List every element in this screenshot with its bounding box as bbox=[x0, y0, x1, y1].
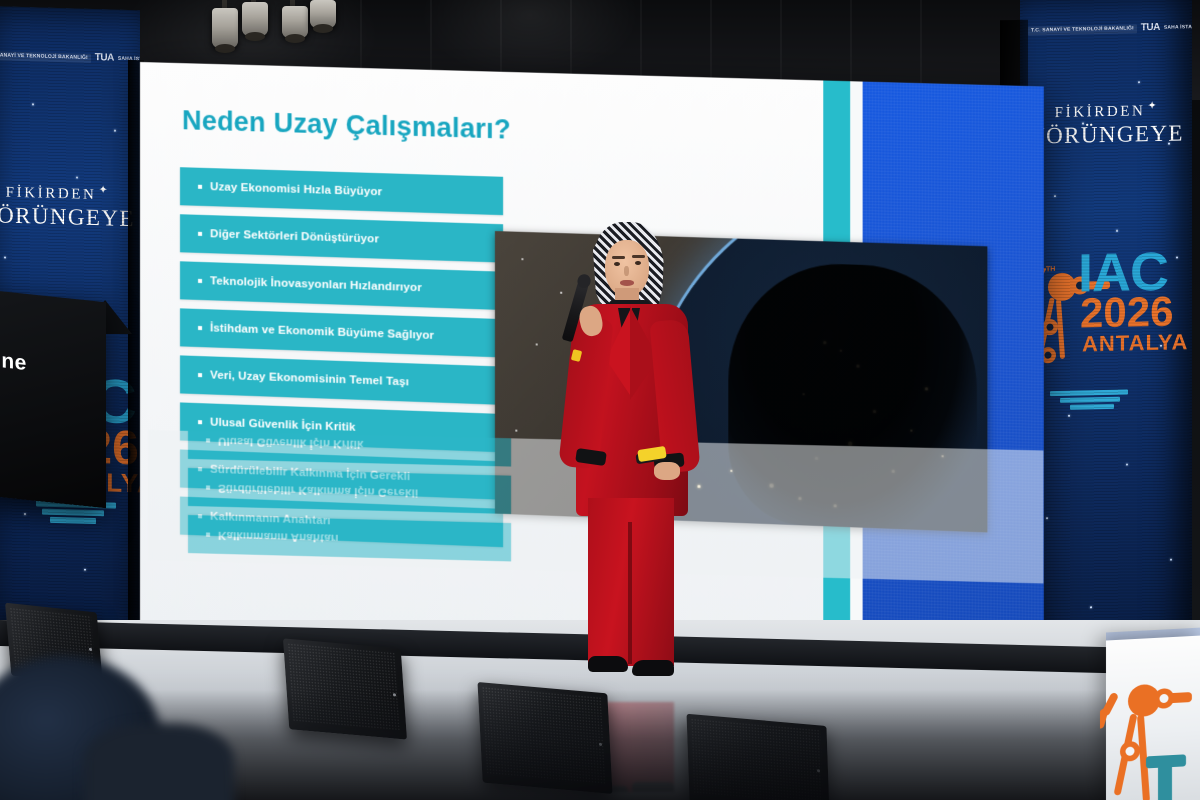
bullet-item: Teknolojik İnovasyonları Hızlandırıyor bbox=[180, 261, 503, 310]
bullet-label: İstihdam ve Ekonomik Büyüme Sağlıyor bbox=[210, 322, 434, 342]
bullet-square-icon bbox=[206, 533, 210, 537]
podium-left-label: one bbox=[0, 348, 27, 376]
iac-logo-right: 77 TH IAC 2026 ANTALYA bbox=[1020, 230, 1192, 484]
mouth bbox=[620, 280, 634, 286]
stage-spotlight bbox=[212, 8, 238, 48]
eye bbox=[635, 261, 641, 265]
sponsor-logo: SAHA İSTANBUL bbox=[1164, 25, 1192, 31]
bullet-label: Veri, Uzay Ekonomisinin Temel Taşı bbox=[210, 369, 409, 388]
podium-left: one bbox=[0, 290, 106, 509]
svg-text:TH: TH bbox=[1046, 266, 1055, 273]
bullet-label: Diğer Sektörleri Dönüştürüyor bbox=[210, 228, 379, 245]
bullet-square-icon bbox=[206, 439, 210, 443]
bullet-item: Diğer Sektörleri Dönüştürüyor bbox=[180, 214, 503, 262]
bullet-label: Uzay Ekonomisi Hızla Büyüyor bbox=[210, 181, 382, 198]
banner-tagline-left: FİKİRDEN✦ YÖRÜNGEYE bbox=[0, 184, 140, 232]
sponsor-logo-tua: TUA bbox=[95, 53, 114, 64]
banner-right: T.C. SANAYİ VE TEKNOLOJİ BAKANLIĞI TUA S… bbox=[1020, 0, 1192, 716]
bullet-square-icon bbox=[198, 325, 202, 329]
bullet-item: Veri, Uzay Ekonomisinin Temel Taşı bbox=[180, 355, 503, 405]
sponsor-logo: T.C. SANAYİ VE TEKNOLOJİ BAKANLIĞI bbox=[1028, 24, 1137, 36]
shoe bbox=[588, 656, 628, 672]
iac-year-right: 2026 bbox=[1080, 287, 1173, 336]
bullet-item: İstihdam ve Ekonomik Büyüme Sağlıyor bbox=[180, 308, 503, 357]
tagline-line2: YÖRÜNGEYE bbox=[1020, 120, 1192, 149]
bullet-square-icon bbox=[198, 420, 202, 424]
crane-robot-icon bbox=[1100, 658, 1192, 800]
star-icon: ✦ bbox=[98, 184, 110, 197]
bullet-square-icon bbox=[206, 486, 210, 490]
presenter bbox=[560, 222, 710, 682]
tagline-line2: YÖRÜNGEYE bbox=[0, 201, 140, 231]
foreground-audience-silhouette bbox=[84, 724, 234, 800]
bullet-square-icon bbox=[198, 278, 202, 282]
eyebrow bbox=[612, 256, 625, 259]
bullet-label: Sürdürülebilir Kalkınma İçin Gerekli bbox=[218, 482, 418, 499]
sponsor-logo-tua: TUA bbox=[1141, 23, 1160, 34]
bullet-label: Ulusal Güvenlik İçin Kritik bbox=[218, 435, 364, 450]
trouser-seam bbox=[628, 522, 632, 664]
shoe bbox=[632, 660, 674, 676]
stage-spotlight bbox=[310, 0, 336, 28]
bullet-label: Teknolojik İnovasyonları Hızlandırıyor bbox=[210, 275, 422, 294]
bullet-square-icon bbox=[198, 184, 202, 188]
eyebrow bbox=[632, 255, 645, 258]
photo-scene: T.C. SANAYİ VE TEKNOLOJİ BAKANLIĞI TUA S… bbox=[0, 0, 1200, 800]
bullet-item: Uzay Ekonomisi Hızla Büyüyor bbox=[180, 167, 503, 215]
bullet-label: Kalkınmanın Anahtarı bbox=[218, 529, 339, 544]
iac-city-right: ANTALYA bbox=[1082, 330, 1188, 357]
stage-spotlight bbox=[242, 2, 268, 36]
stage-spotlight bbox=[282, 6, 308, 38]
star-icon: ✦ bbox=[1147, 100, 1159, 113]
bullet-item-reflected: Sürdürülebilir Kalkınma İçin Gerekli bbox=[188, 468, 511, 514]
tagline-line1: FİKİRDEN bbox=[6, 185, 97, 204]
tagline-line1: FİKİRDEN bbox=[1055, 103, 1146, 121]
banner-tagline-right: FİKİRDEN✦ YÖRÜNGEYE bbox=[1020, 102, 1192, 149]
iac-bars-right bbox=[1050, 388, 1128, 413]
bullet-square-icon bbox=[198, 231, 202, 235]
podium-right bbox=[1106, 635, 1200, 800]
sponsor-logo: T.C. SANAYİ VE TEKNOLOJİ BAKANLIĞI bbox=[0, 51, 91, 63]
nose bbox=[624, 266, 629, 276]
bullet-square-icon bbox=[198, 373, 202, 377]
eye bbox=[614, 262, 620, 266]
hand-holding-clicker bbox=[654, 462, 680, 480]
